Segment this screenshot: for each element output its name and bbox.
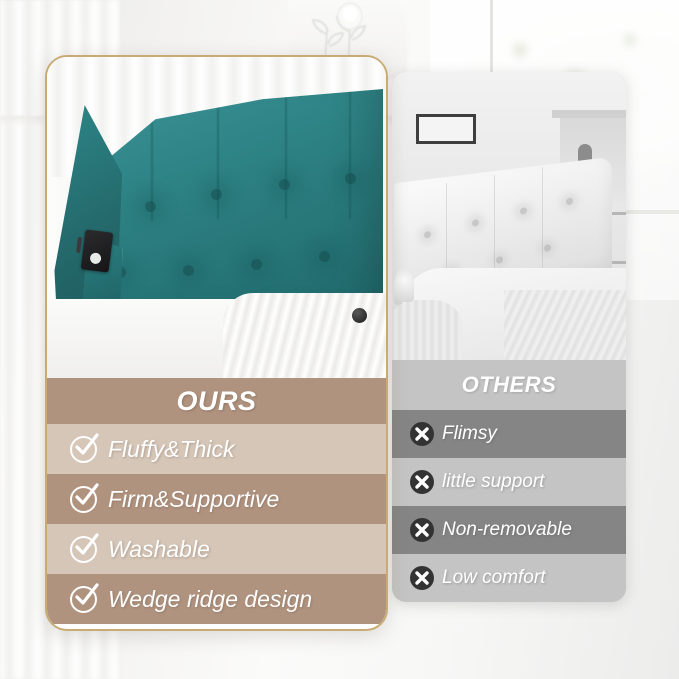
others-feature-row: Flimsy [392, 410, 626, 458]
check-circle-icon [70, 586, 97, 613]
ours-header-label: OURS [176, 386, 256, 417]
others-header: OTHERS [392, 360, 626, 410]
ours-header: OURS [47, 378, 386, 424]
check-circle-icon [70, 536, 97, 563]
x-circle-icon [410, 566, 434, 590]
ours-feature-label: Firm&Supportive [108, 486, 279, 513]
ours-feature-row: Washable [47, 524, 386, 574]
others-throw-blanket [504, 290, 626, 360]
ours-feature-label: Wedge ridge design [108, 586, 312, 613]
others-table-lamp [394, 268, 414, 302]
others-feature-label: Low comfort [442, 567, 545, 589]
ours-comparison-card: OURS Fluffy&Thick Firm&Sup [45, 55, 388, 631]
photo-duvet [223, 293, 386, 378]
phone-in-pocket [81, 229, 114, 272]
others-wall-frame [416, 114, 476, 144]
ours-feature-list: OURS Fluffy&Thick Firm&Sup [47, 378, 386, 629]
ours-product-photo [47, 57, 386, 378]
others-product-photo [392, 72, 626, 360]
x-circle-icon [410, 518, 434, 542]
ours-feature-row: Fluffy&Thick [47, 424, 386, 474]
others-feature-row: little support [392, 458, 626, 506]
others-feature-row: Low comfort [392, 554, 626, 602]
check-circle-icon [70, 436, 97, 463]
photo-bed-knob [352, 308, 367, 323]
others-feature-label: Flimsy [442, 423, 497, 445]
product-comparison-image: OTHERS Flimsy little suppo [0, 0, 679, 679]
others-header-label: OTHERS [462, 372, 557, 398]
x-circle-icon [410, 422, 434, 446]
others-shelf [552, 110, 626, 118]
ours-feature-row: Firm&Supportive [47, 474, 386, 524]
others-nightstand [392, 300, 462, 360]
ours-feature-label: Fluffy&Thick [108, 436, 235, 463]
check-circle-icon [70, 486, 97, 513]
ours-feature-row: Wedge ridge design [47, 574, 386, 624]
x-circle-icon [410, 470, 434, 494]
others-feature-list: OTHERS Flimsy little suppo [392, 360, 626, 602]
ours-feature-label: Washable [108, 536, 210, 563]
others-feature-row: Non-removable [392, 506, 626, 554]
others-feature-label: little support [442, 471, 544, 493]
others-comparison-card: OTHERS Flimsy little suppo [392, 72, 626, 602]
others-feature-label: Non-removable [442, 519, 572, 541]
